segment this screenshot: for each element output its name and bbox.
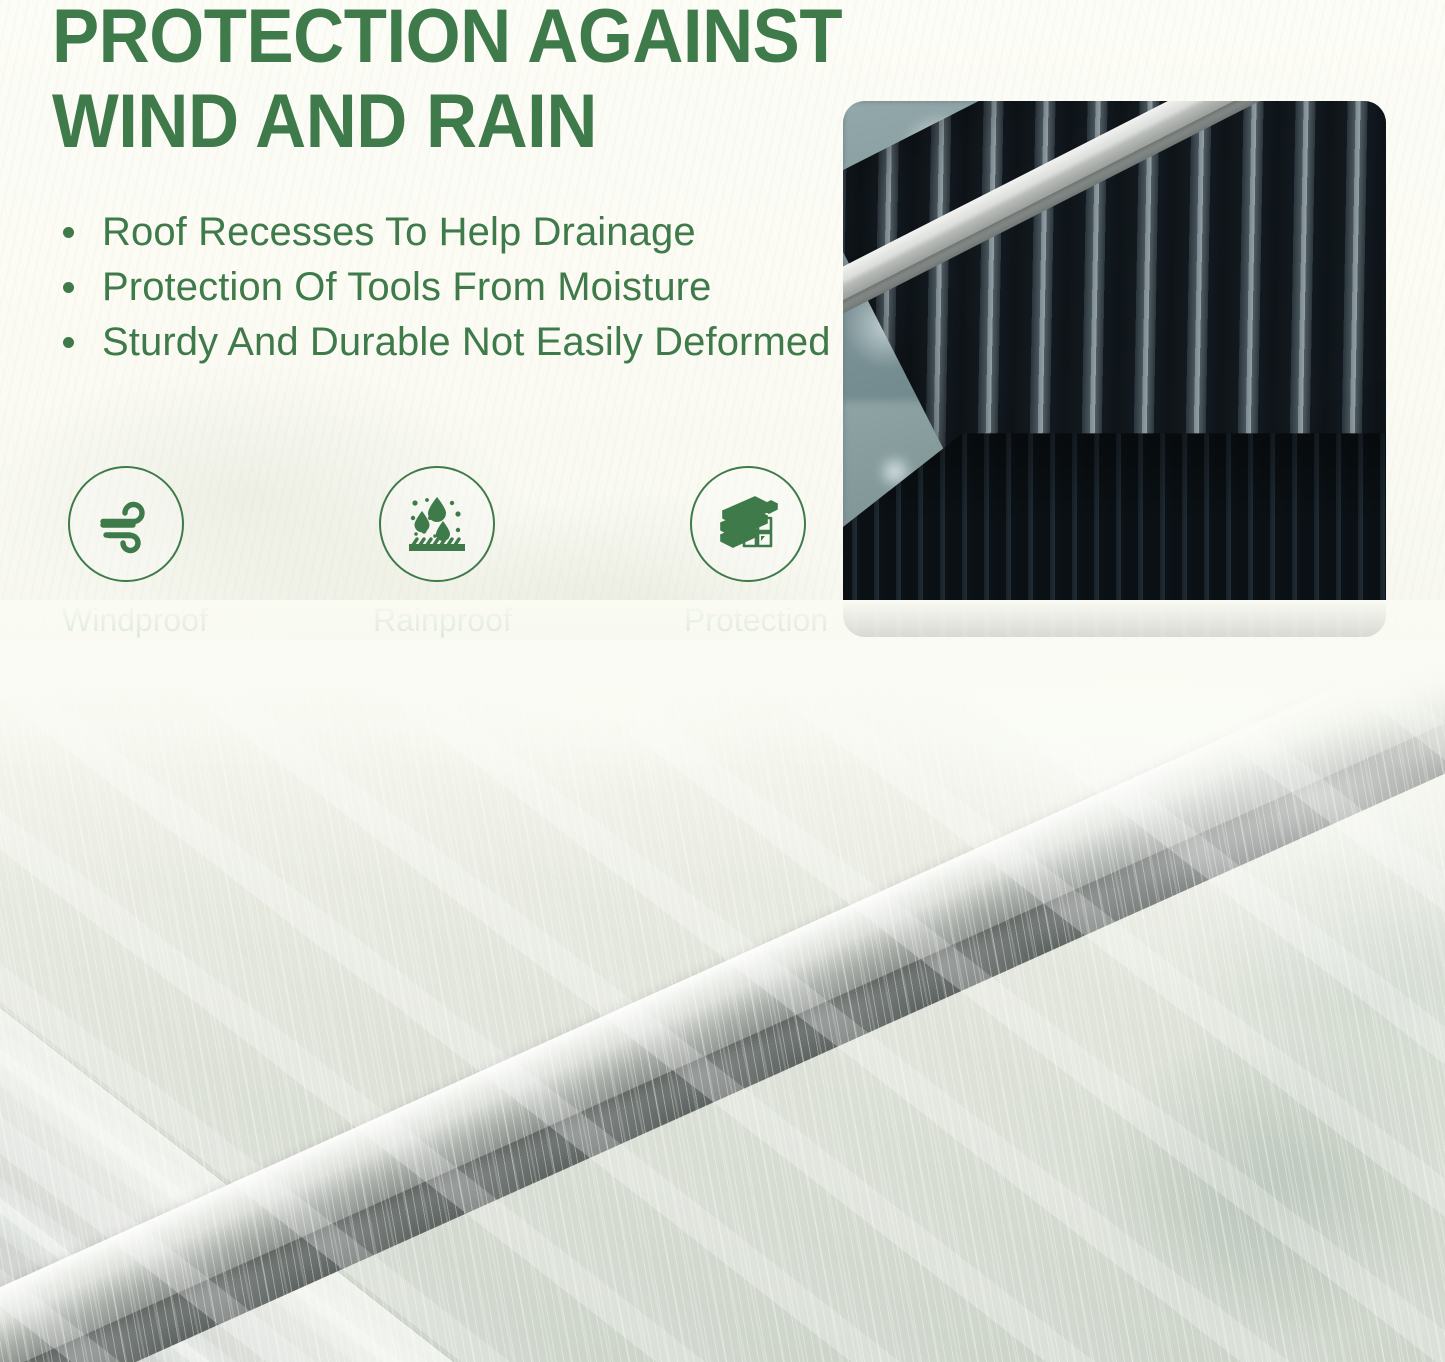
product-feature-banner: PROTECTION AGAINST WIND AND RAIN Roof Re… — [0, 0, 1445, 1362]
bullet-dot-icon — [63, 337, 74, 348]
feature-badge-label: Rainproof — [373, 602, 501, 638]
feature-badge-circle — [68, 466, 184, 582]
list-item: Protection Of Tools From Moisture — [57, 260, 857, 315]
list-item: Sturdy And Durable Not Easily Deformed — [57, 315, 857, 370]
stacked-lumber-icon — [711, 487, 785, 561]
page-title: PROTECTION AGAINST WIND AND RAIN — [52, 0, 870, 164]
hero-rain-photo — [0, 640, 1445, 1362]
water-droplets-icon — [400, 487, 474, 561]
inset-wall-shadow — [843, 433, 1386, 637]
feature-badge-circle — [690, 466, 806, 582]
feature-bullet-list: Roof Recesses To Help Drainage Protectio… — [57, 205, 857, 370]
list-item: Roof Recesses To Help Drainage — [57, 205, 857, 260]
feature-badge-rainproof: Rainproof — [373, 466, 501, 638]
bullet-dot-icon — [63, 227, 74, 238]
feature-badge-label: Protection — [684, 602, 812, 638]
feature-badge-circle — [379, 466, 495, 582]
list-item-label: Protection Of Tools From Moisture — [102, 260, 857, 315]
feature-badge-row: Windproof — [62, 466, 812, 638]
feature-badge-windproof: Windproof — [62, 466, 190, 638]
list-item-label: Sturdy And Durable Not Easily Deformed — [102, 315, 857, 370]
feature-badge-label: Windproof — [62, 602, 190, 638]
list-item-label: Roof Recesses To Help Drainage — [102, 205, 857, 260]
wind-icon — [89, 487, 163, 561]
roof-closeup-inset-photo — [843, 101, 1386, 637]
feature-badge-protection: Protection — [684, 466, 812, 638]
bullet-dot-icon — [63, 282, 74, 293]
